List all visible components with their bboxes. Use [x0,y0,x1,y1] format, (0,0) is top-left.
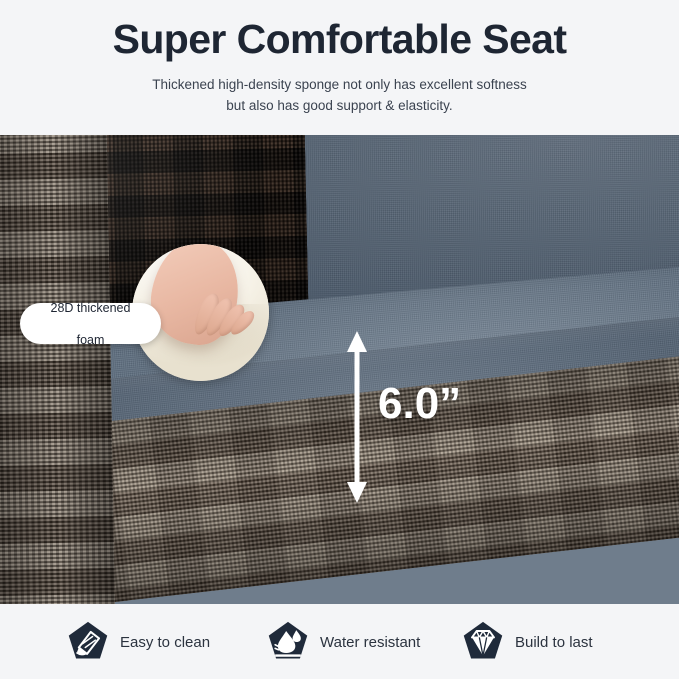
feature-water-resistant: Water resistant [266,620,420,664]
foam-callout-line-1: 28D thickened [51,300,131,316]
seat-thickness-label: 6.0” [378,382,461,426]
feature-label: Build to last [515,634,593,651]
subtitle-line-2: but also has good support & elasticity. [0,95,679,116]
feature-label: Water resistant [320,634,420,651]
subtitle-line-1: Thickened high-density sponge not only h… [0,74,679,95]
feature-label: Easy to clean [120,634,210,651]
foam-callout-badge: 28D thickened foam [20,303,161,344]
product-photo: 28D thickened foam 6.0” [0,135,679,604]
feature-bar: Easy to clean Water resistant Build to l… [0,604,679,679]
hand-wiping-cloth-icon [66,620,110,664]
double-headed-vertical-arrow-icon [344,331,370,503]
header-section: Super Comfortable Seat Thickened high-de… [0,0,679,135]
feature-easy-to-clean: Easy to clean [66,620,210,664]
page-subtitle: Thickened high-density sponge not only h… [0,74,679,116]
water-droplet-icon [266,620,310,664]
foam-callout-line-2: foam [51,332,131,348]
feature-build-to-last: Build to last [461,620,593,664]
diamond-gem-icon [461,620,505,664]
page-title: Super Comfortable Seat [0,14,679,64]
product-infographic: Super Comfortable Seat Thickened high-de… [0,0,679,679]
left-wicker-arm-shading [0,135,117,604]
foam-callout-text: 28D thickened foam [51,300,131,348]
